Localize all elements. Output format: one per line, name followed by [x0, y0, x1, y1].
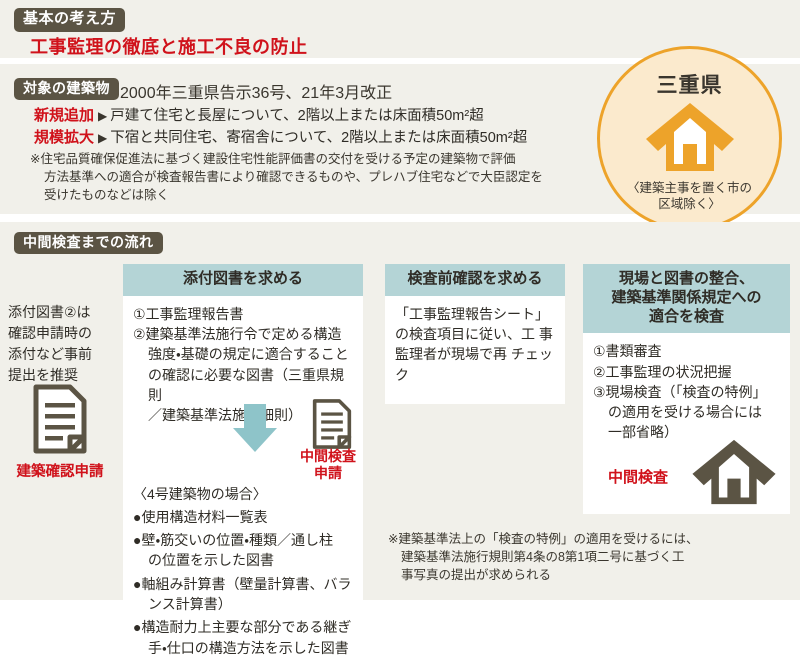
flow-col1-bullet-3-cont: ンス計算書） [133, 594, 355, 614]
target-law-reference: 2000年三重県告示36号、21年3月改正 [120, 79, 392, 103]
flow-col1-bullet-1: ●使用構造材料一覧表 [133, 507, 355, 527]
house-icon [690, 438, 778, 511]
section-label-basic-concept: 基本の考え方 [14, 8, 125, 32]
target-note-line-2: 方法基準への適合が検査報告書により確認できるものや、プレハブ住宅などで大臣認定を [30, 168, 590, 186]
flow-column-2-header: 検査前確認を求める [385, 264, 565, 296]
flow-col1-bullet-3: ●軸組み計算書（壁量計算書、バラ [133, 574, 355, 594]
flow-col2-item-1: 「工事監理報告シート」 [395, 306, 549, 322]
flow-footnote: ※建築基準法上の「検査の特例」の適用を受けるには、 建築基準法施行規則第4条の8… [388, 530, 788, 584]
doc-chu-label-line-2: 申請 [314, 465, 342, 481]
house-icon [644, 101, 736, 178]
down-arrow-icon [244, 404, 266, 430]
target-row-new-addition-text: 戸建て住宅と長屋について、2階以上または床面積50m²超 [110, 104, 483, 125]
infographic-page: 基本の考え方 工事監理の徹底と施工不良の防止 対象の建築物 2000年三重県告示… [0, 0, 800, 600]
flow-col1-bullet-2: ●壁・筋交いの位置・種類／通し柱 [133, 530, 355, 550]
document-icon-label-building-permit: 建築確認申請 [4, 460, 116, 481]
triangle-marker-icon: ▶ [98, 131, 107, 145]
flow-col1-subheading: 〈4号建築物の場合〉 [133, 486, 267, 502]
document-icon [310, 398, 354, 455]
prefecture-badge-title: 三重県 [600, 69, 779, 99]
flow-left-note-line-2: 確認申請時の [8, 325, 92, 341]
flow-column-pre-inspection-check: 検査前確認を求める 「工事監理報告シート」 の検査項目に従い、工 事監理者が現場… [385, 264, 565, 404]
flow-col3-item-1: ①書類審査 [593, 341, 782, 361]
prefecture-badge-subtitle: 〈建築主事を置く市の 区域除く〉 [600, 180, 779, 213]
section-label-target-buildings: 対象の建築物 [14, 78, 119, 100]
tag-new-addition: 新規追加 [34, 104, 94, 125]
document-icon-label-midterm-application: 中間検査 申請 [288, 448, 368, 482]
target-note-line-3: 受けたものなどは除く [30, 186, 590, 204]
triangle-marker-icon: ▶ [98, 109, 107, 123]
tag-scope-expansion: 規模拡大 [34, 126, 94, 147]
flow-col3-header-line-3: 適合を検査 [649, 308, 724, 325]
flow-col1-item-2: ②建築基準法施行令で定める構造 [133, 324, 355, 344]
flow-col3-item-4: の適用を受ける場合には [593, 402, 782, 422]
house-icon-label-midterm-inspection: 中間検査 [608, 466, 668, 487]
section-label-flow: 中間検査までの流れ [14, 232, 163, 254]
document-icon [30, 383, 90, 460]
flow-col2-item-2: の検査項目に従い、工 [395, 326, 535, 342]
flow-col3-header-line-2: 建築基準関係規定への [611, 289, 761, 306]
flow-col1-bullet-2-cont: の位置を示した図書 [133, 550, 355, 570]
flow-column-3-body: ①書類審査 ②工事監理の状況把握 ③現場検査（「検査の特例」 の適用を受ける場合… [583, 333, 790, 446]
prefecture-badge-subtitle-line-1: 〈建築主事を置く市の [627, 181, 752, 195]
flow-left-note: 添付図書②は 確認申請時の 添付など事前 提出を推奨 [8, 302, 118, 386]
prefecture-badge: 三重県 〈建築主事を置く市の 区域除く〉 [597, 46, 782, 231]
prefecture-badge-subtitle-line-2: 区域除く〉 [658, 197, 721, 211]
basic-concept-headline: 工事監理の徹底と施工不良の防止 [30, 33, 308, 59]
flow-left-note-line-1: 添付図書②は [8, 304, 91, 320]
flow-column-1-header: 添付図書を求める [123, 264, 363, 296]
target-row-scope-expansion-text: 下宿と共同住宅、寄宿舎について、2階以上または床面積50m²超 [110, 126, 527, 147]
down-arrow-head-icon [233, 428, 277, 452]
flow-left-note-line-4: 提出を推奨 [8, 367, 78, 383]
flow-col1-bullet-4: ●構造耐力上主要な部分である継ぎ [133, 617, 355, 637]
flow-footnote-line-2: 建築基準法施行規則第4条の8第1項二号に基づく工 [388, 548, 788, 566]
flow-col3-item-2: ②工事監理の状況把握 [593, 362, 782, 382]
doc-chu-label-line-1: 中間検査 [300, 448, 356, 464]
flow-col3-item-3: ③現場検査（「検査の特例」 [593, 382, 782, 402]
flow-footnote-line-1: ※建築基準法上の「検査の特例」の適用を受けるには、 [388, 532, 698, 546]
flow-left-note-line-3: 添付など事前 [8, 346, 92, 362]
flow-column-2-body: 「工事監理報告シート」 の検査項目に従い、工 事監理者が現場で再 チェック [385, 296, 565, 389]
flow-col1-item-1: ①工事監理報告書 [133, 304, 355, 324]
flow-col1-bullet-4-cont: 手・仕口の構造方法を示した図書 [133, 638, 355, 658]
flow-column-3-header: 現場と図書の整合、 建築基準関係規定への 適合を検査 [583, 264, 790, 333]
target-exclusion-note: ※住宅品質確保促進法に基づく建設住宅性能評価書の交付を受ける予定の建築物で評価 … [30, 150, 590, 204]
flow-footnote-line-3: 事写真の提出が求められる [388, 566, 788, 584]
flow-col3-header-line-1: 現場と図書の整合、 [619, 270, 754, 287]
flow-col1-item-3: 強度・基礎の規定に適合すること [133, 344, 355, 364]
target-row-scope-expansion: 規模拡大 ▶ 下宿と共同住宅、寄宿舎について、2階以上または床面積50m²超 [34, 126, 527, 147]
target-note-line-1: ※住宅品質確保促進法に基づく建設住宅性能評価書の交付を受ける予定の建築物で評価 [30, 152, 515, 166]
target-row-new-addition: 新規追加 ▶ 戸建て住宅と長屋について、2階以上または床面積50m²超 [34, 104, 484, 125]
